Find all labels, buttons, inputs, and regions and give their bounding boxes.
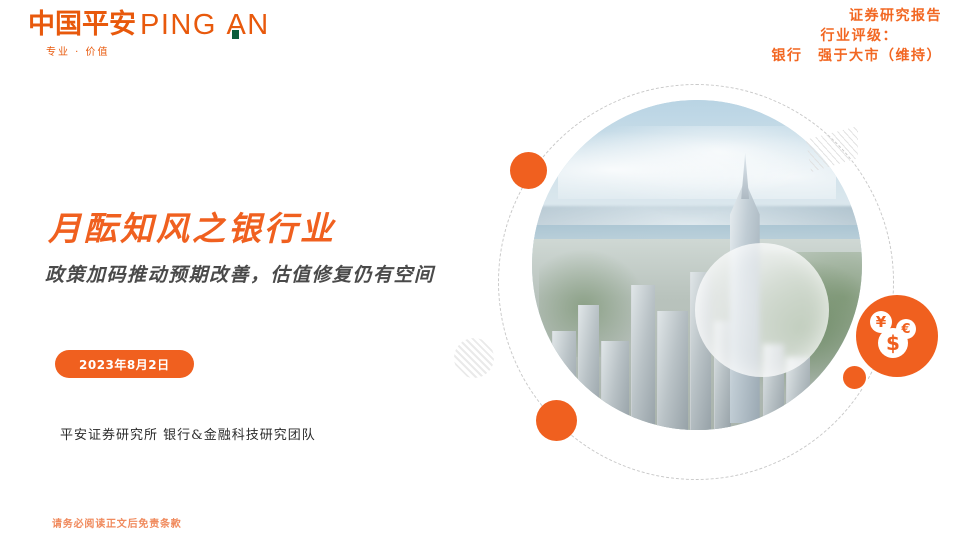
pingan-logo[interactable]: 中国平安 PING AN 专业 · 价值 [28,8,358,64]
hatched-circle-decoration [454,338,494,378]
logo-en-an: AN [226,10,269,40]
cover-slide: 中国平安 PING AN 专业 · 价值 证券研究报告 行业评级： 银行 强于大… [0,0,960,540]
report-type-label: 证券研究报告 [772,6,943,26]
dollar-icon: $ [878,328,908,358]
currency-coins: ¥ € $ [856,295,938,377]
orange-dot-top [510,152,547,189]
page-subtitle: 政策加码推动预期改善，估值修复仍有空间 [45,262,435,288]
photo-clouds [558,126,835,199]
logo-chinese-text: 中国平安 [28,10,136,40]
research-team-label: 平安证券研究所 银行&金融科技研究团队 [60,424,316,443]
orange-dot-bottom [536,400,577,441]
photo-building [631,285,655,430]
disclaimer-note: 请务必阅读正文后免责条款 [52,515,182,530]
report-header: 证券研究报告 行业评级： 银行 强于大市（维持） [772,6,943,66]
industry-rating-label: 行业评级： [772,26,943,46]
photo-building [601,341,628,430]
industry-rating-value: 银行 强于大市（维持） [772,46,943,66]
photo-building [578,305,599,430]
publish-date-badge: 2023年8月2日 [55,350,194,378]
logo-en-ping: PING [140,9,226,41]
currency-badge: ¥ € $ [856,295,938,377]
page-title: 月酝知风之银行业 [48,209,336,249]
cover-visual: ¥ € $ [470,70,960,490]
orange-dot-badge-small [841,364,868,391]
photo-building [657,311,688,430]
frosted-glass-circle [695,243,829,377]
logo-tagline: 专业 · 价值 [46,43,110,58]
logo-english-text: PING AN [140,10,270,40]
